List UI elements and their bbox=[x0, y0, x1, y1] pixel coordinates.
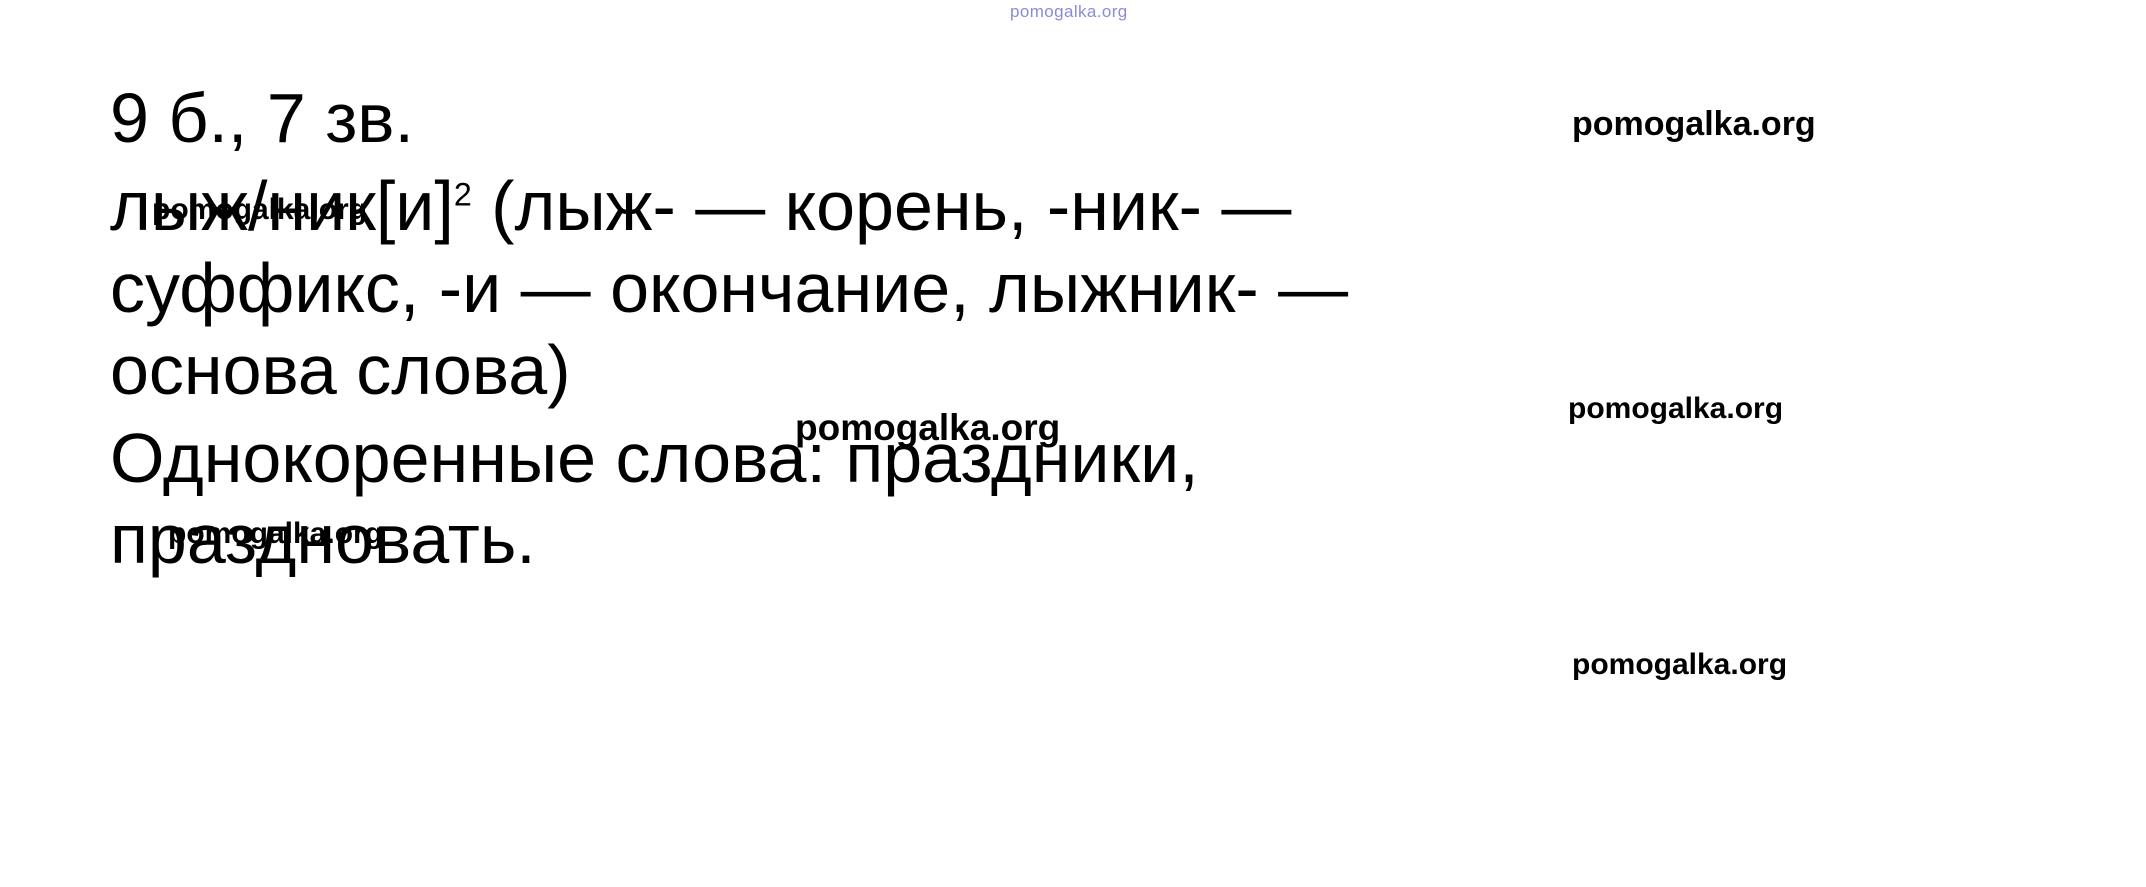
answer-line-cognates-1: Однокоренные слова: праздники, bbox=[110, 418, 1980, 500]
answer-page: pomogalka.org 9 б., 7 зв. лыж/ник[и]2 (л… bbox=[0, 0, 2146, 887]
answer-text-block: 9 б., 7 зв. лыж/ник[и]2 (лыж- — корень, … bbox=[110, 78, 1980, 581]
morpheme-explanation-start: (лыж- — корень, -ник- — bbox=[472, 167, 1292, 245]
answer-line-cognates-2: праздновать. bbox=[110, 499, 1980, 581]
watermark-top: pomogalka.org bbox=[1010, 2, 1128, 22]
answer-line-morpheme-analysis-1: лыж/ник[и]2 (лыж- — корень, -ник- — bbox=[110, 166, 1980, 248]
answer-line-morpheme-analysis-2: суффикс, -и — окончание, лыжник- — bbox=[110, 248, 1980, 330]
morpheme-word: лыж/ник[и] bbox=[110, 167, 454, 245]
watermark-lower-right: pomogalka.org bbox=[1572, 648, 1787, 682]
answer-line-letters-sounds: 9 б., 7 зв. bbox=[110, 78, 1980, 160]
analysis-superscript-2: 2 bbox=[454, 177, 472, 213]
answer-line-morpheme-analysis-3: основа слова) bbox=[110, 330, 1980, 412]
